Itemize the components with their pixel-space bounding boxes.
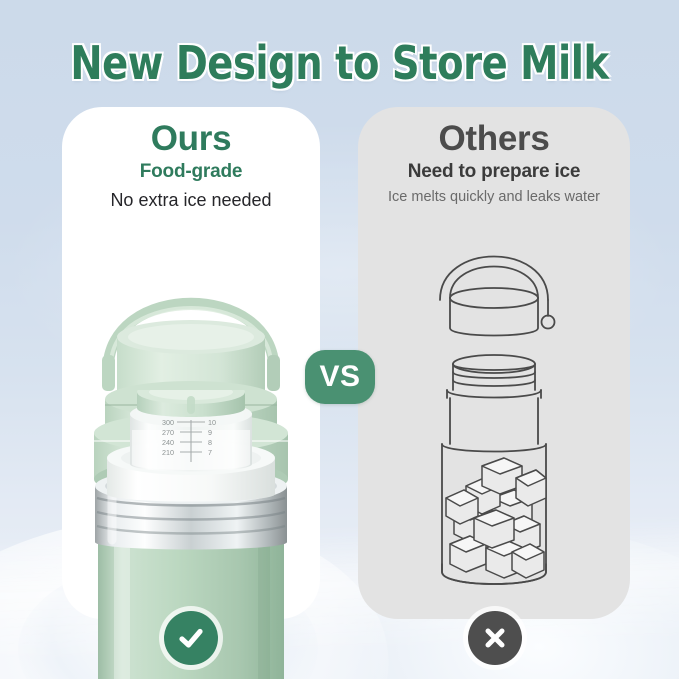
panel-others-header: Others Need to prepare ice Ice melts qui… [358,119,630,208]
panel-others-description: Ice melts quickly and leaks water [358,187,630,209]
others-cap-outline [440,257,555,336]
panel-ours-subheading: Food-grade [62,158,320,187]
inner-container-green-cap [137,390,245,417]
scale-ml-1: 270 [162,428,174,437]
page-title: New Design to Store Milk [24,36,655,90]
verdict-badge-others [468,611,522,665]
scale-oz-1: 9 [208,428,212,437]
vs-badge: VS [305,350,375,404]
scale-labels-ml: 300 270 240 210 [162,418,174,457]
panel-ours-heading: Ours [62,119,320,158]
cross-icon [480,623,510,653]
check-icon [175,622,207,654]
scale-ml-0: 300 [162,418,174,427]
scale-oz-2: 8 [208,438,212,447]
scale-ml-2: 240 [162,438,174,447]
scale-ml-3: 210 [162,448,174,457]
ice-cubes-icon [446,458,546,578]
panel-ours-header: Ours Food-grade No extra ice needed [62,119,320,214]
verdict-badge-ours [164,611,218,665]
panel-others-subheading: Need to prepare ice [358,158,630,187]
scale-oz-0: 10 [208,418,216,427]
panel-ours-description: No extra ice needed [62,187,320,214]
product-image-others [358,212,630,612]
panel-others-heading: Others [358,119,630,158]
scale-oz-3: 7 [208,448,212,457]
